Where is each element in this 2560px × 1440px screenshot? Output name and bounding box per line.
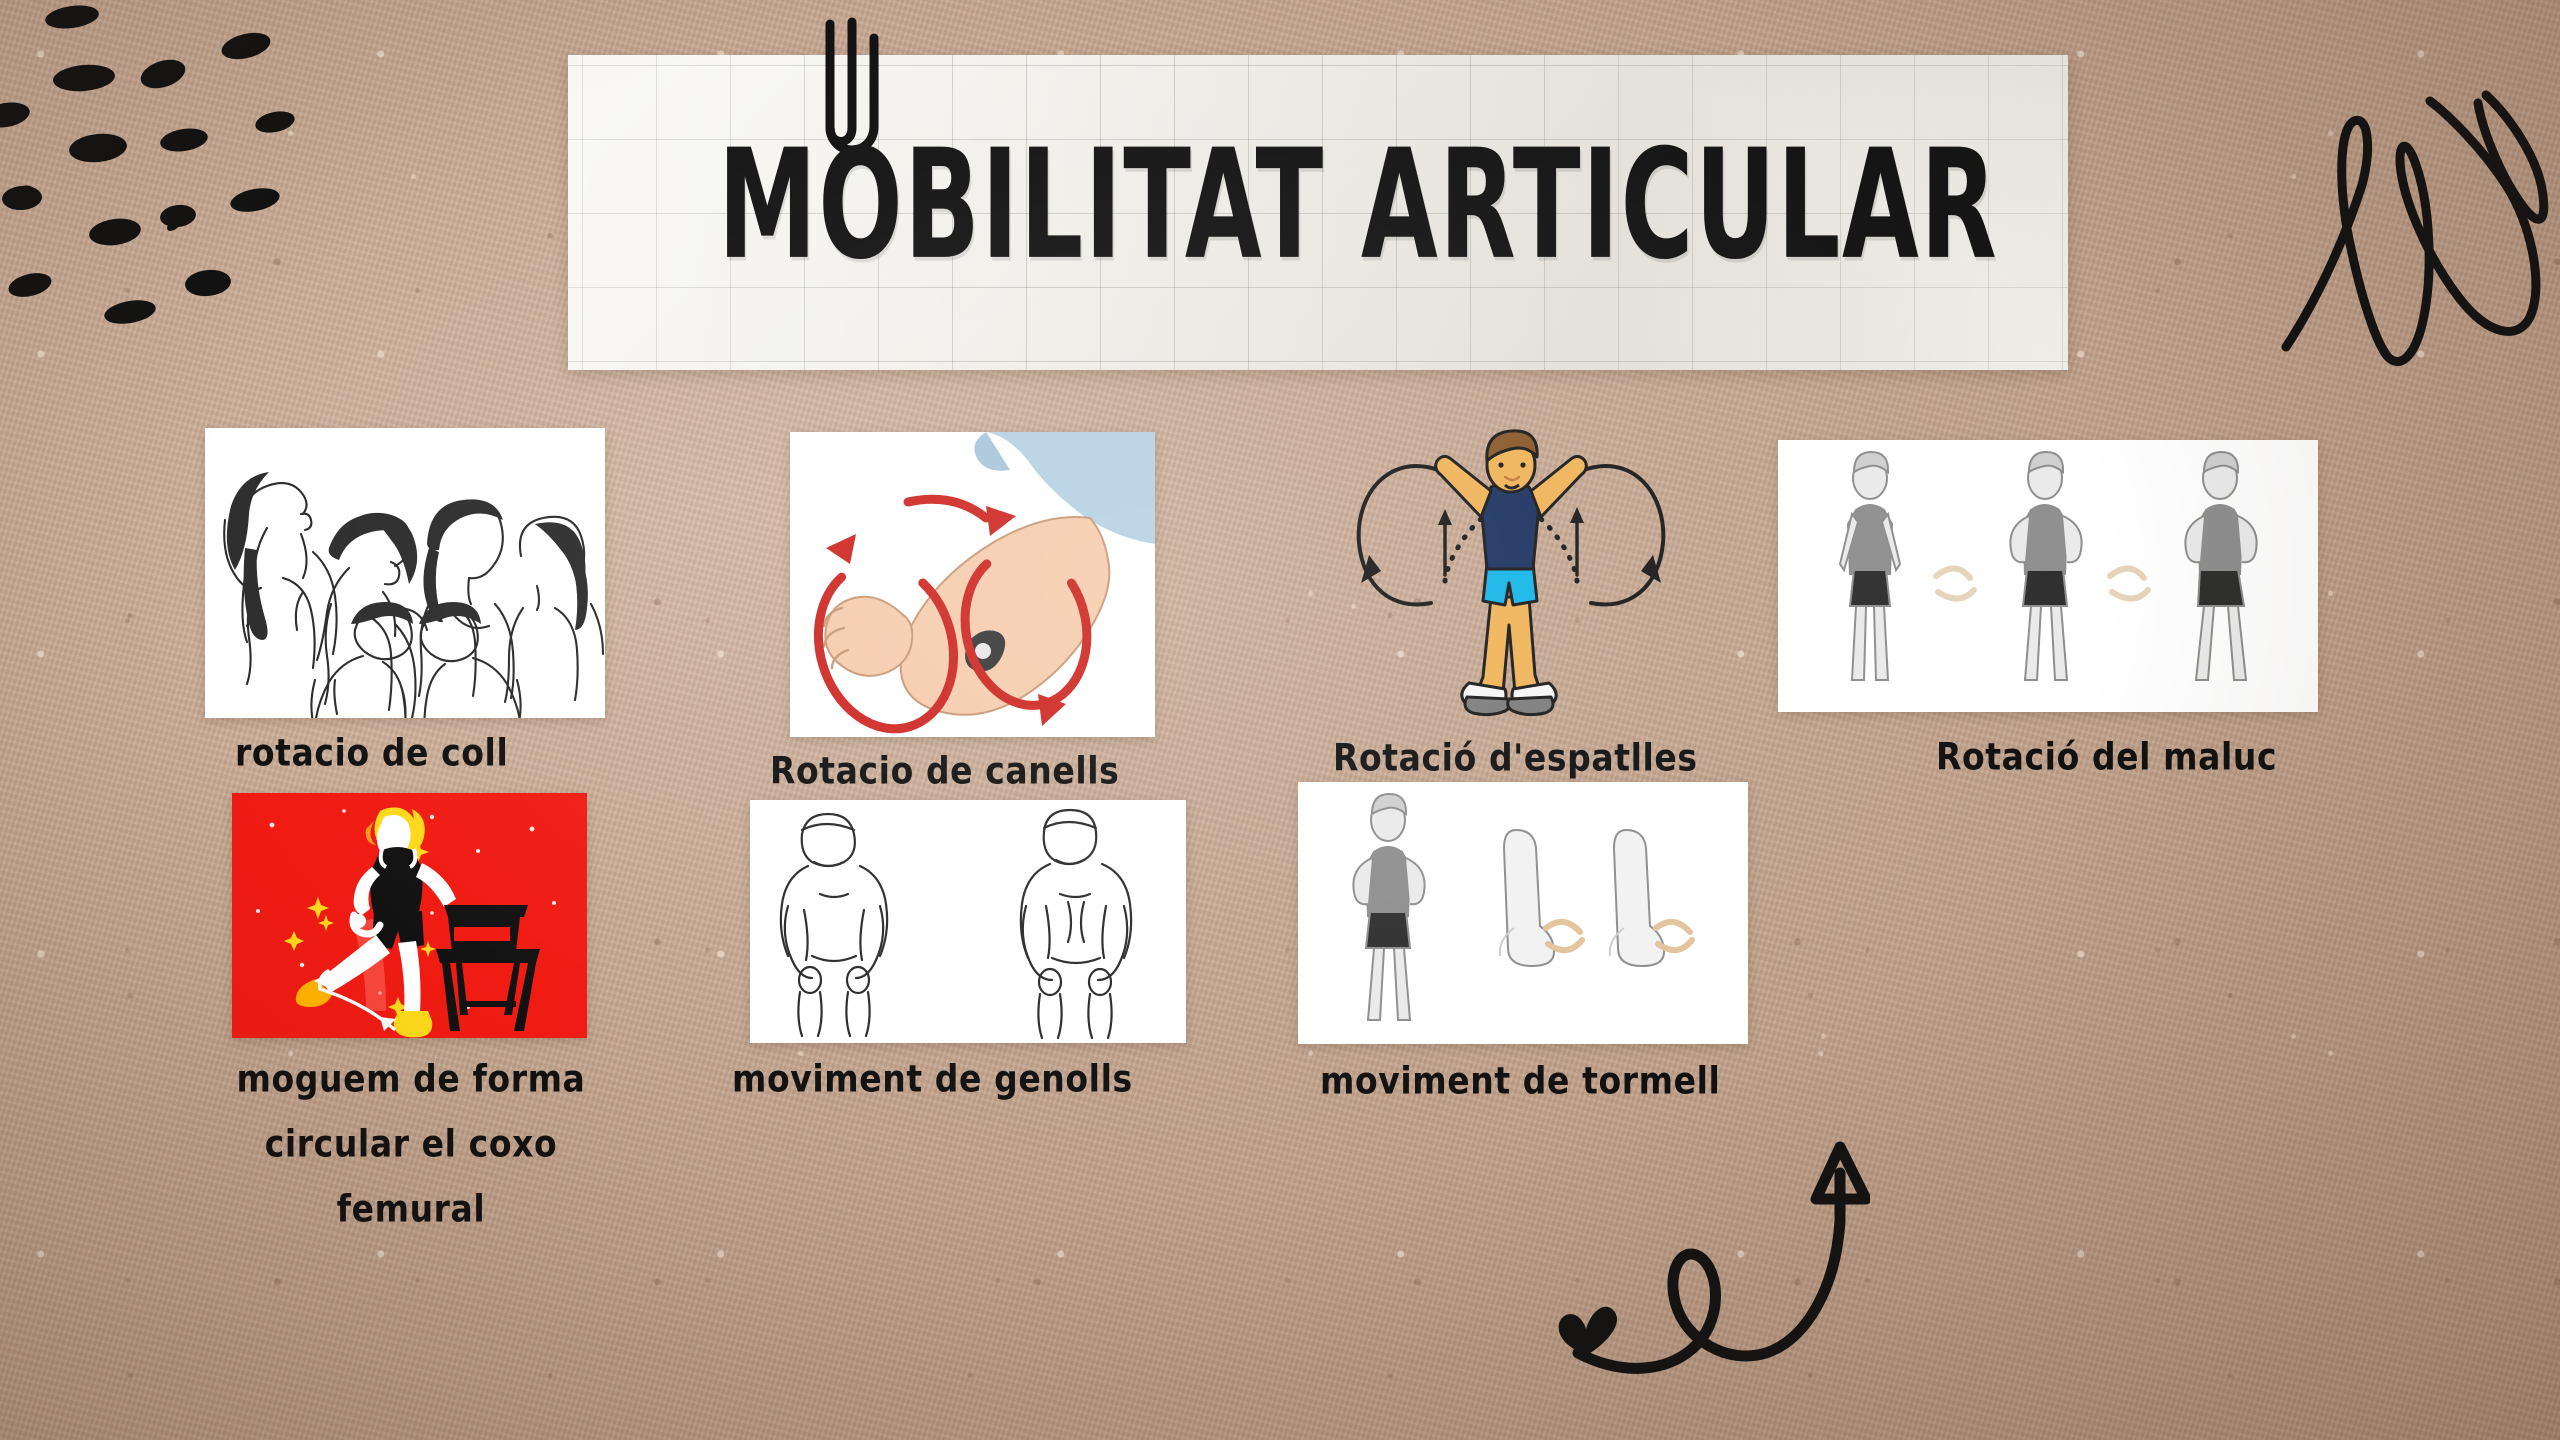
caption-shoulders: Rotació d'espatlles	[1333, 739, 1698, 776]
page-title: MOBILITAT ARTICULAR	[718, 130, 1918, 281]
caption-wrists: Rotacio de canells	[770, 752, 1119, 789]
ankles-illustration	[1298, 782, 1748, 1044]
wrists-illustration	[790, 432, 1155, 737]
caption-line-3: femural	[216, 1176, 606, 1241]
hip-illustration	[1778, 440, 2318, 712]
caption-line-2: circular el coxo	[216, 1111, 606, 1176]
neck-illustration	[205, 428, 605, 718]
shoulders-illustration	[1345, 425, 1675, 730]
caption-knees: moviment de genolls	[732, 1060, 1133, 1097]
curly-arrow-icon	[1540, 1125, 1870, 1390]
knees-illustration	[750, 800, 1186, 1043]
scribble-dots-icon	[0, 0, 330, 340]
caption-neck: rotacio de coll	[235, 734, 508, 771]
caption-line-1: moguem de forma	[216, 1047, 606, 1112]
coxofemural-illustration	[232, 793, 587, 1038]
caption-hip: Rotació del maluc	[1936, 738, 2277, 775]
caption-ankles: moviment de tormell	[1320, 1062, 1720, 1099]
caption-coxofemural: moguem de forma circular el coxo femural	[216, 1047, 606, 1241]
loop-scribble-icon	[2250, 85, 2560, 385]
